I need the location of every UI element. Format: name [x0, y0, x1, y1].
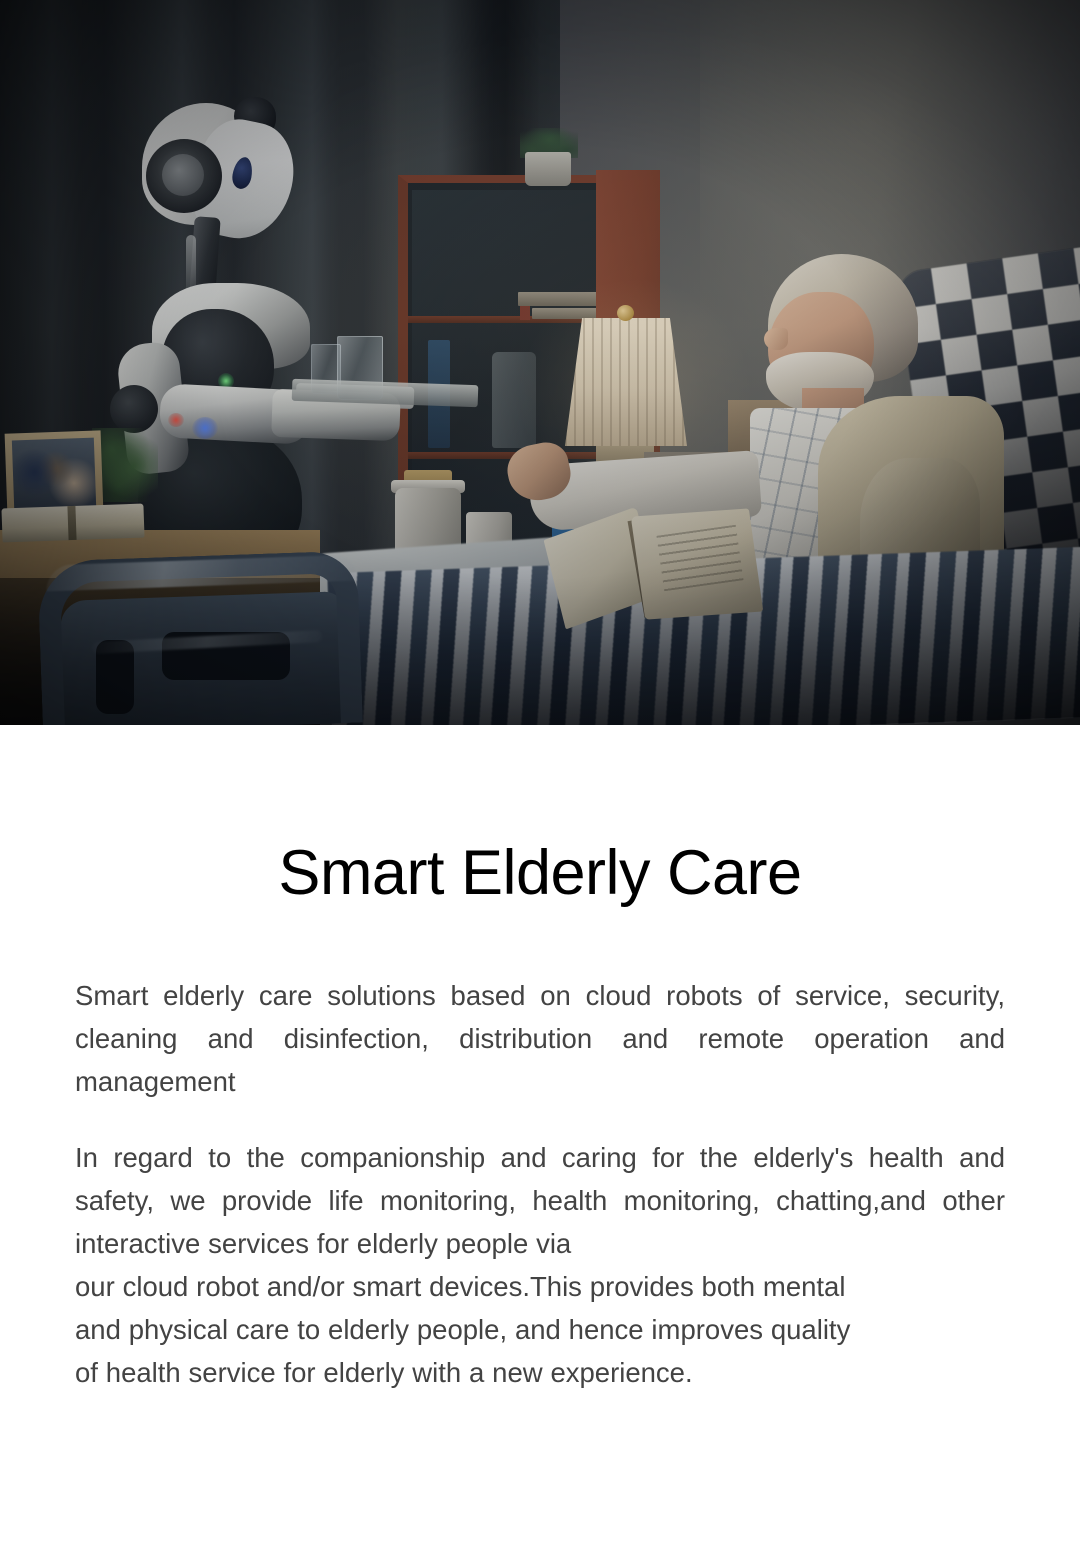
hero-image [0, 0, 1080, 725]
page-title: Smart Elderly Care [0, 725, 1080, 905]
desk-photo-image [12, 438, 96, 509]
potted-plant-pot [525, 152, 571, 186]
robot-head-disc-inner [162, 154, 204, 196]
photo-scene [0, 0, 1080, 725]
robot-elbow-joint [110, 385, 158, 433]
desk-book-spine [67, 506, 76, 540]
bookshelf-book-red [520, 306, 530, 320]
body-copy: Smart elderly care solutions based on cl… [0, 905, 1080, 1394]
paragraph-services-line-4: our cloud robot and/or smart devices.Thi… [75, 1265, 1005, 1308]
desk-picture-frame [5, 430, 104, 515]
paragraph-services-line-6: of health service for elderly with a new… [75, 1351, 1005, 1394]
paragraph-services-lead: In regard to the companionship and carin… [75, 1142, 1005, 1259]
lamp-finial [617, 305, 634, 321]
paragraph-services-line-5: and physical care to elderly people, and… [75, 1308, 1005, 1351]
open-book-text-lines [656, 525, 743, 592]
robot-status-led-red [168, 413, 184, 427]
robot-status-led-blue [192, 417, 218, 439]
paragraph-services: In regard to the companionship and carin… [75, 1103, 1005, 1394]
man-nose [764, 328, 788, 350]
table-lamp-shade [565, 318, 687, 446]
content-section: Smart Elderly Care Smart elderly care so… [0, 725, 1080, 1394]
page-root: Smart Elderly Care Smart elderly care so… [0, 0, 1080, 1561]
paragraph-overview: Smart elderly care solutions based on cl… [75, 905, 1005, 1103]
